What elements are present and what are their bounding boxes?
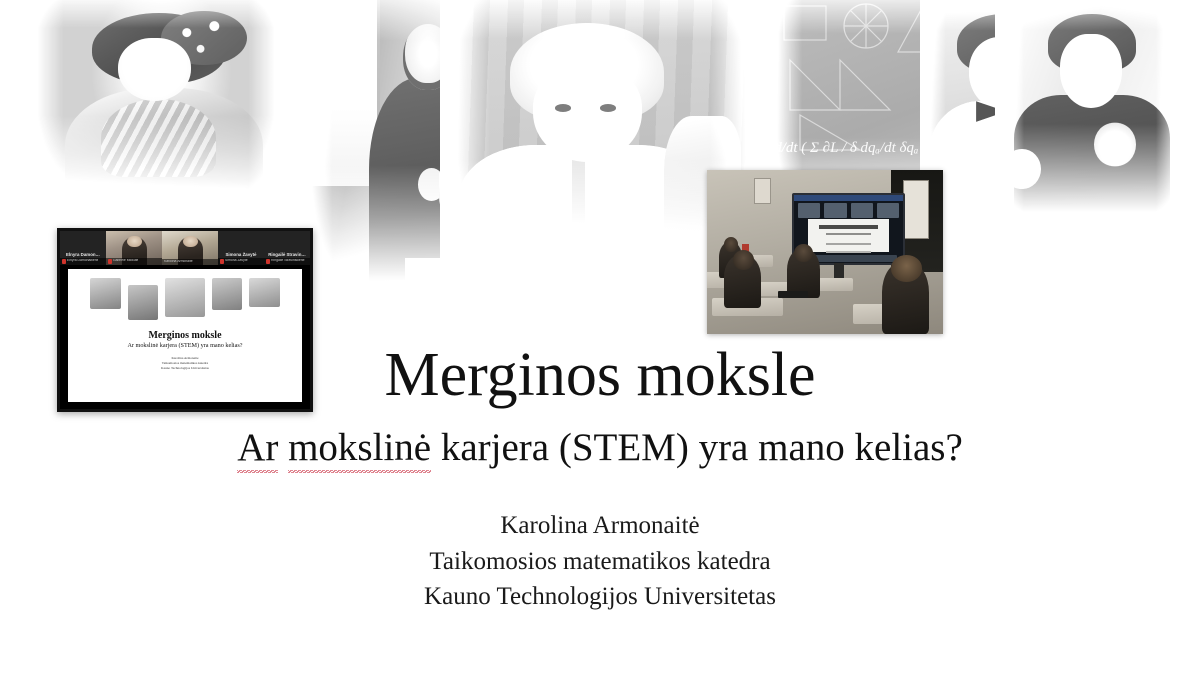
slide-subtitle-word-misspelled: mokslinė xyxy=(288,426,431,473)
participant-tile[interactable]: Ringailė Stravin… Ringaile Stravinskiene xyxy=(264,231,310,265)
mic-muted-icon xyxy=(220,259,224,264)
participant-subname: Ringaile Stravinskiene xyxy=(271,259,305,263)
participant-tile[interactable]: Gabriele Mickute xyxy=(106,231,162,265)
participant-tile[interactable]: Simona Žavytė Simona Žavyte xyxy=(218,231,264,265)
participant-tile[interactable]: Elnyra Damon… Elnyra Damonaitiene xyxy=(60,231,106,265)
portrait-emmy-noether-icon xyxy=(920,0,1090,230)
chalkboard-equation: d/dt ( Σ ∂L / δ dqₐ/dt δqₐ ) = 0 xyxy=(774,140,955,157)
slide-subtitle-word-misspelled: Ar xyxy=(237,426,278,473)
portrait-grace-hopper-icon xyxy=(995,0,1185,225)
participant-subname: Gabriele Mickute xyxy=(113,259,138,263)
portrait-ada-lovelace-icon xyxy=(22,0,290,210)
mic-muted-icon xyxy=(266,259,270,264)
shared-slide-title: Merginos moksle xyxy=(68,330,302,341)
author-name: Karolina Armonaitė xyxy=(0,508,1200,544)
mic-muted-icon xyxy=(108,259,112,264)
participant-filmstrip: Elnyra Damon… Elnyra Damonaitiene Gabrie… xyxy=(60,231,310,265)
slide-subtitle-space xyxy=(278,426,288,469)
slide-subtitle: Ar mokslinė karjera (STEM) yra mano keli… xyxy=(0,428,1200,469)
classroom-audience-photo xyxy=(707,170,943,334)
slide-subtitle-rest: karjera (STEM) yra mano kelias? xyxy=(431,426,963,469)
author-department: Taikomosios matematikos katedra xyxy=(0,544,1200,580)
participant-subname: Simona Žavyte xyxy=(225,259,248,263)
participant-subname: Karolina Armonaite xyxy=(164,260,193,264)
participant-namebar: Elnyra Damonaitiene xyxy=(60,258,106,266)
shared-slide-portrait-band xyxy=(68,269,302,328)
mic-muted-icon xyxy=(62,259,66,264)
participant-namebar: Simona Žavyte xyxy=(218,258,264,266)
author-university: Kauno Technologijos Universitetas xyxy=(0,579,1200,615)
participant-tile-active-speaker[interactable]: Karolina Armonaite xyxy=(162,231,218,265)
participant-namebar: Gabriele Mickute xyxy=(106,258,162,266)
participant-subname: Elnyra Damonaitiene xyxy=(67,259,98,263)
slide-title: Merginos moksle xyxy=(0,344,1200,406)
participant-namebar: Ringaile Stravinskiene xyxy=(264,258,310,266)
author-block: Karolina Armonaitė Taikomosios matematik… xyxy=(0,508,1200,615)
participant-namebar: Karolina Armonaite xyxy=(162,259,218,265)
portrait-marie-curie-icon xyxy=(300,0,510,300)
presentation-slide: d/dt ( Σ ∂L / δ dqₐ/dt δqₐ ) = 0 Elnyra … xyxy=(0,0,1200,675)
